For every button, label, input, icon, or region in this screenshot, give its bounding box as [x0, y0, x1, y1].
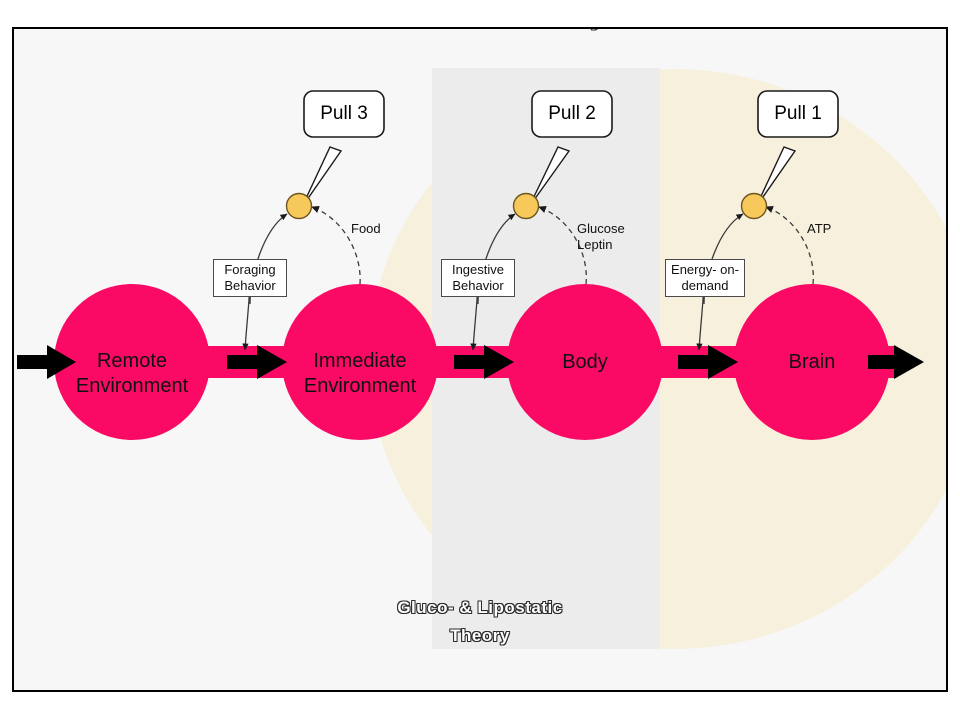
node-circle-brain: [734, 284, 890, 440]
pull-1-node: [742, 194, 767, 219]
behavior-box-energy-on-demand: Energy- on- demand: [665, 259, 745, 297]
signal-label-line1: Food: [351, 221, 381, 237]
signal-label-glucose-leptin: Glucose Leptin: [577, 221, 625, 253]
pull-2-node: [514, 194, 539, 219]
behavior-box-line1: Ingestive: [446, 262, 510, 278]
page-title: "Selfish Brain"-Theory: [14, 27, 946, 31]
pull-3-node: [287, 194, 312, 219]
signal-label-line1: Glucose: [577, 221, 625, 237]
signal-label-food: Food: [351, 221, 381, 237]
node-circle-remote-environment: [54, 284, 210, 440]
pull-3-label[interactable]: Pull 3: [304, 103, 384, 125]
behavior-box-line2: Behavior: [446, 278, 510, 294]
behavior-box-line1: Foraging: [218, 262, 282, 278]
node-circle-body: [507, 284, 663, 440]
behavior-box-foraging-behavior: Foraging Behavior: [213, 259, 287, 297]
band-title-line2: Theory: [14, 622, 946, 650]
diagram-canvas: "Selfish Brain"-Theory Gluco- & Lipostat…: [0, 0, 960, 720]
diagram-graphics: [14, 29, 946, 690]
node-circle-immediate-environment: [282, 284, 438, 440]
diagram-frame: "Selfish Brain"-Theory Gluco- & Lipostat…: [12, 27, 948, 692]
gluco-lipostatic-title: Gluco- & Lipostatic Theory: [14, 594, 946, 650]
behavior-box-ingestive-behavior: Ingestive Behavior: [441, 259, 515, 297]
behavior-box-line2: demand: [670, 278, 740, 294]
band-title-line1: Gluco- & Lipostatic: [14, 594, 946, 622]
signal-label-atp: ATP: [807, 221, 831, 237]
pull-2-label[interactable]: Pull 2: [532, 103, 612, 125]
behavior-box-line2: Behavior: [218, 278, 282, 294]
pull-1-label[interactable]: Pull 1: [758, 103, 838, 125]
food-curve: [312, 207, 360, 284]
behavior-box-line1: Energy- on-: [670, 262, 740, 278]
signal-label-line2: Leptin: [577, 237, 625, 253]
signal-label-line1: ATP: [807, 221, 831, 237]
